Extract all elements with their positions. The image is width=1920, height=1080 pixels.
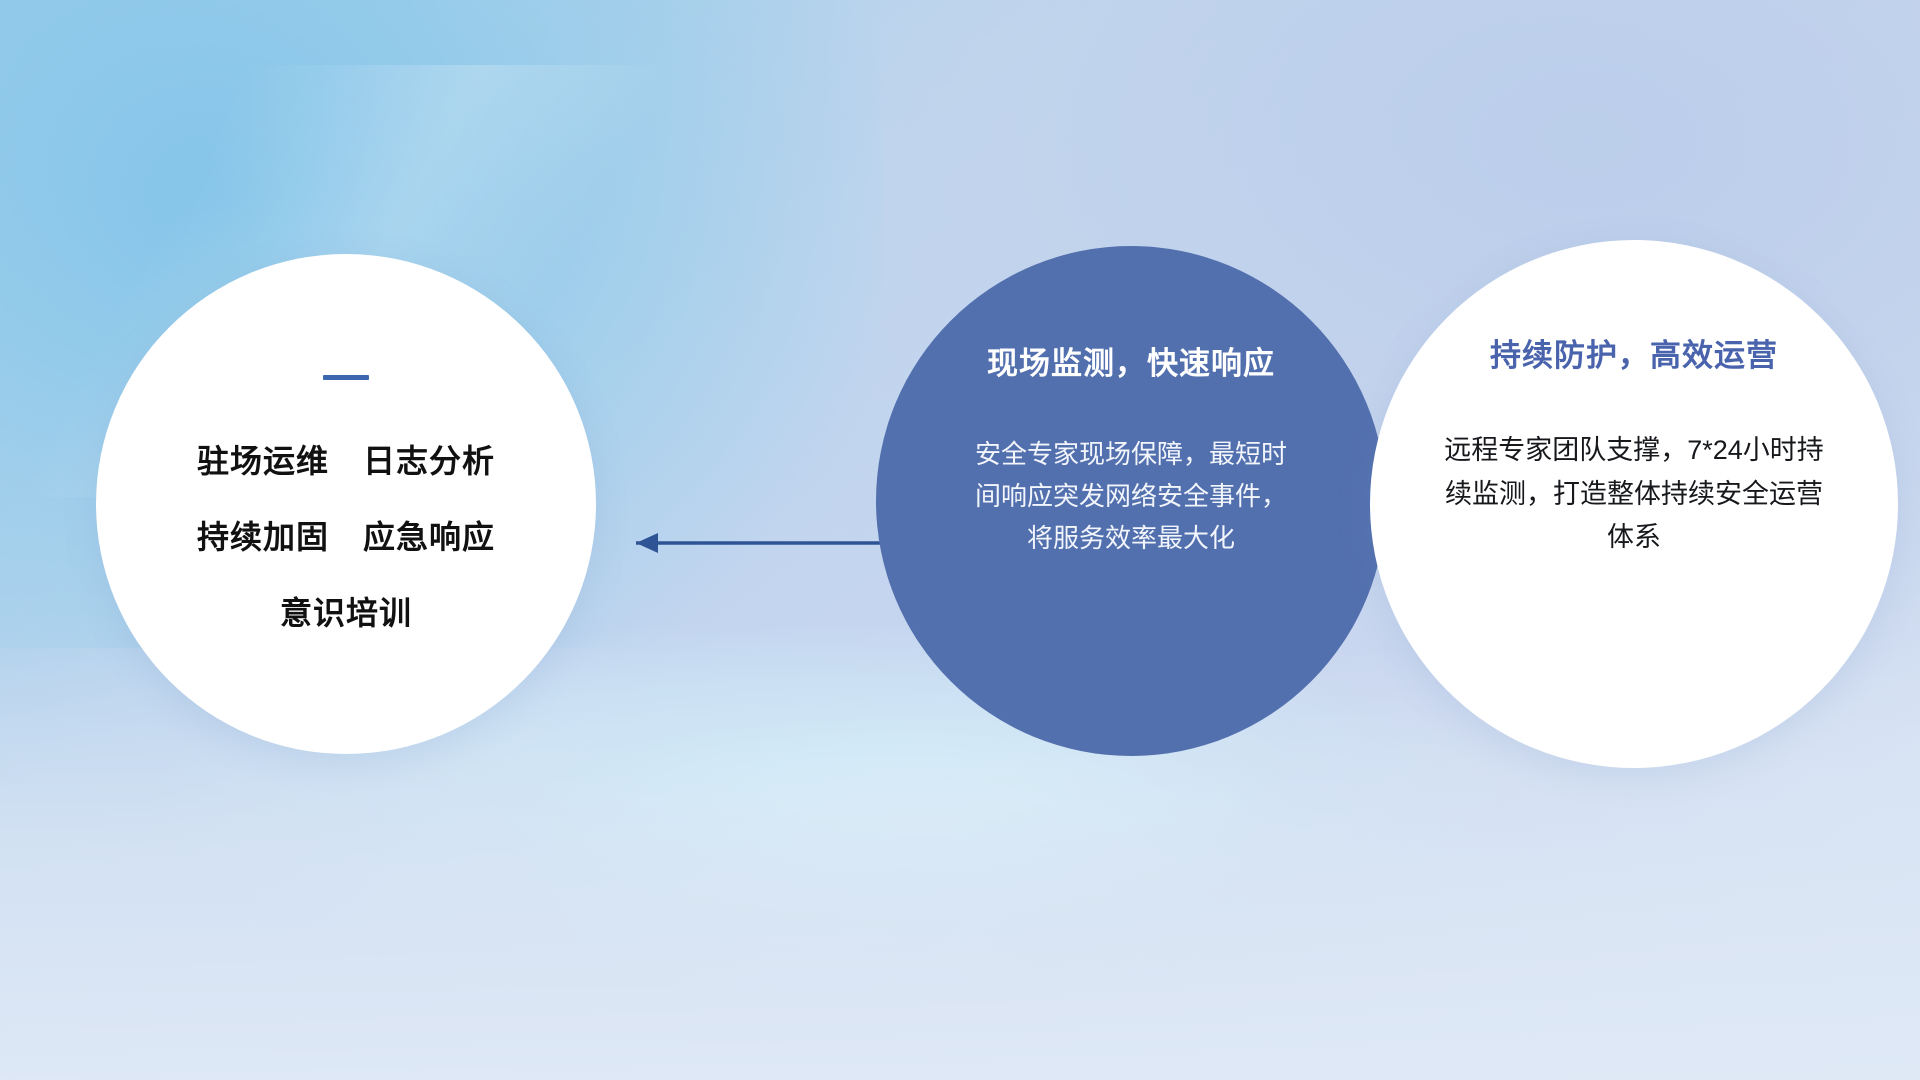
capability-item[interactable]: 日志分析 (363, 436, 495, 482)
onsite-monitoring-title: 现场监测，快速响应 (987, 338, 1275, 383)
capability-item[interactable]: 持续加固 (197, 512, 329, 558)
continuous-protection-title: 持续防护，高效运营 (1490, 330, 1778, 375)
continuous-protection-circle[interactable]: 持续防护，高效运营 远程专家团队支撑，7*24小时持续监测，打造整体持续安全运营… (1370, 240, 1898, 768)
diagram-canvas: 驻场运维 日志分析 持续加固 应急响应 意识培训 现场监测，快速响应 安全专家现… (0, 0, 1920, 1080)
onsite-monitoring-description: 安全专家现场保障，最短时间响应突发网络安全事件，将服务效率最大化 (971, 433, 1291, 559)
onsite-monitoring-circle[interactable]: 现场监测，快速响应 安全专家现场保障，最短时间响应突发网络安全事件，将服务效率最… (876, 246, 1386, 756)
capability-row: 持续加固 应急响应 (197, 512, 495, 558)
capability-item[interactable]: 应急响应 (363, 512, 495, 558)
connector-arrow-left-icon (614, 528, 890, 558)
continuous-protection-description: 远程专家团队支撑，7*24小时持续监测，打造整体持续安全运营体系 (1434, 429, 1834, 560)
capability-item[interactable]: 驻场运维 (197, 436, 329, 482)
capability-row: 驻场运维 日志分析 (197, 436, 495, 482)
capability-keyword-list: 驻场运维 日志分析 持续加固 应急响应 意识培训 (197, 436, 495, 634)
capabilities-circle[interactable]: 驻场运维 日志分析 持续加固 应急响应 意识培训 (96, 254, 596, 754)
capability-row: 意识培训 (280, 588, 412, 634)
capability-item[interactable]: 意识培训 (280, 588, 412, 634)
divider-dash (323, 375, 369, 380)
